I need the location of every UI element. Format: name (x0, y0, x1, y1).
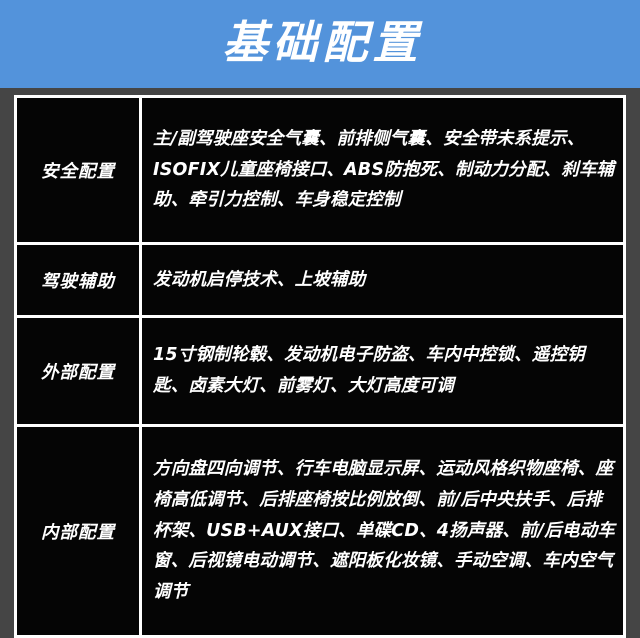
page-title: 基础配置 (217, 20, 422, 69)
spec-table-container: 安全配置 主/副驾驶座安全气囊、前排侧气囊、安全带未系提示、ISOFIX儿童座椅… (14, 95, 626, 638)
spec-category-label: 外部配置 (17, 317, 141, 426)
spec-value-text: 主/副驾驶座安全气囊、前排侧气囊、安全带未系提示、ISOFIX儿童座椅接口、AB… (141, 98, 624, 244)
spec-value-text: 15寸钢制轮毂、发动机电子防盗、车内中控锁、遥控钥匙、卤素大灯、前雾灯、大灯高度… (141, 317, 624, 426)
table-row: 外部配置 15寸钢制轮毂、发动机电子防盗、车内中控锁、遥控钥匙、卤素大灯、前雾灯… (17, 317, 623, 426)
page-header-banner: 基础配置 (0, 0, 640, 88)
table-row: 驾驶辅助 发动机启停技术、上坡辅助 (17, 244, 623, 317)
spec-category-label: 内部配置 (17, 426, 141, 636)
spec-table: 安全配置 主/副驾驶座安全气囊、前排侧气囊、安全带未系提示、ISOFIX儿童座椅… (17, 98, 623, 635)
spec-sheet-page: 基础配置 安全配置 主/副驾驶座安全气囊、前排侧气囊、安全带未系提示、ISOFI… (0, 0, 640, 596)
table-row: 内部配置 方向盘四向调节、行车电脑显示屏、运动风格织物座椅、座椅高低调节、后排座… (17, 426, 623, 636)
spec-value-text: 发动机启停技术、上坡辅助 (141, 244, 624, 317)
spec-value-text: 方向盘四向调节、行车电脑显示屏、运动风格织物座椅、座椅高低调节、后排座椅按比例放… (141, 426, 624, 636)
spec-category-label: 驾驶辅助 (17, 244, 141, 317)
table-row: 安全配置 主/副驾驶座安全气囊、前排侧气囊、安全带未系提示、ISOFIX儿童座椅… (17, 98, 623, 244)
spec-category-label: 安全配置 (17, 98, 141, 244)
